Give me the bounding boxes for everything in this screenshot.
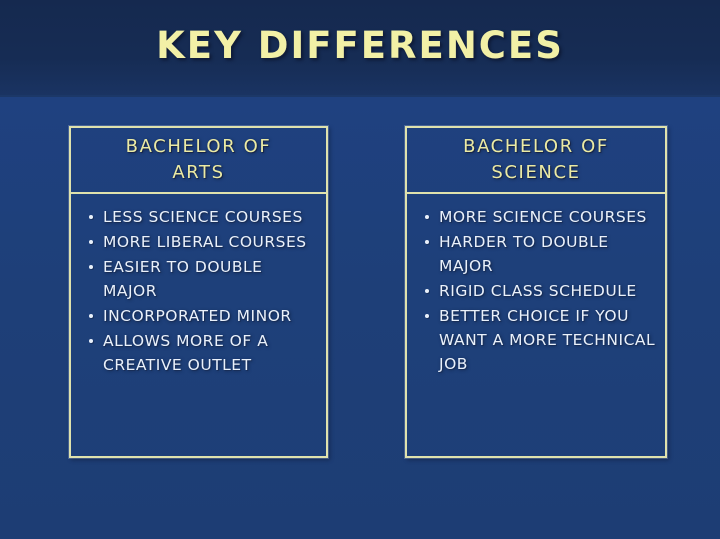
- bullet-list-bachelor-of-arts: LESS SCIENCE COURSES MORE LIBERAL COURSE…: [87, 205, 318, 377]
- card-bachelor-of-arts: BACHELOR OF ARTS LESS SCIENCE COURSES MO…: [69, 126, 328, 458]
- bullet-list-bachelor-of-science: MORE SCIENCE COURSES HARDER TO DOUBLE MA…: [423, 205, 657, 376]
- list-item: EASIER TO DOUBLE MAJOR: [87, 255, 318, 303]
- page-title: KEY DIFFERENCES: [0, 24, 720, 67]
- card-header-bachelor-of-science: BACHELOR OF SCIENCE: [407, 128, 665, 194]
- list-item: BETTER CHOICE IF YOU WANT A MORE TECHNIC…: [423, 304, 657, 376]
- card-body-bachelor-of-arts: LESS SCIENCE COURSES MORE LIBERAL COURSE…: [71, 194, 326, 377]
- list-item: INCORPORATED MINOR: [87, 304, 318, 328]
- card-bachelor-of-science: BACHELOR OF SCIENCE MORE SCIENCE COURSES…: [405, 126, 667, 458]
- slide: KEY DIFFERENCES BACHELOR OF ARTS LESS SC…: [0, 0, 720, 539]
- list-item: MORE SCIENCE COURSES: [423, 205, 657, 229]
- card-heading-line-1: BACHELOR OF: [126, 134, 272, 160]
- card-heading-line-1: BACHELOR OF: [463, 134, 609, 160]
- card-heading-line-2: SCIENCE: [491, 160, 580, 186]
- comparison-columns: BACHELOR OF ARTS LESS SCIENCE COURSES MO…: [0, 97, 720, 539]
- card-body-bachelor-of-science: MORE SCIENCE COURSES HARDER TO DOUBLE MA…: [407, 194, 665, 376]
- list-item: HARDER TO DOUBLE MAJOR: [423, 230, 657, 278]
- list-item: RIGID CLASS SCHEDULE: [423, 279, 657, 303]
- slide-body: BACHELOR OF ARTS LESS SCIENCE COURSES MO…: [0, 97, 720, 539]
- card-heading-line-2: ARTS: [172, 160, 224, 186]
- list-item: LESS SCIENCE COURSES: [87, 205, 318, 229]
- card-header-bachelor-of-arts: BACHELOR OF ARTS: [71, 128, 326, 194]
- list-item: ALLOWS MORE OF A CREATIVE OUTLET: [87, 329, 318, 377]
- list-item: MORE LIBERAL COURSES: [87, 230, 318, 254]
